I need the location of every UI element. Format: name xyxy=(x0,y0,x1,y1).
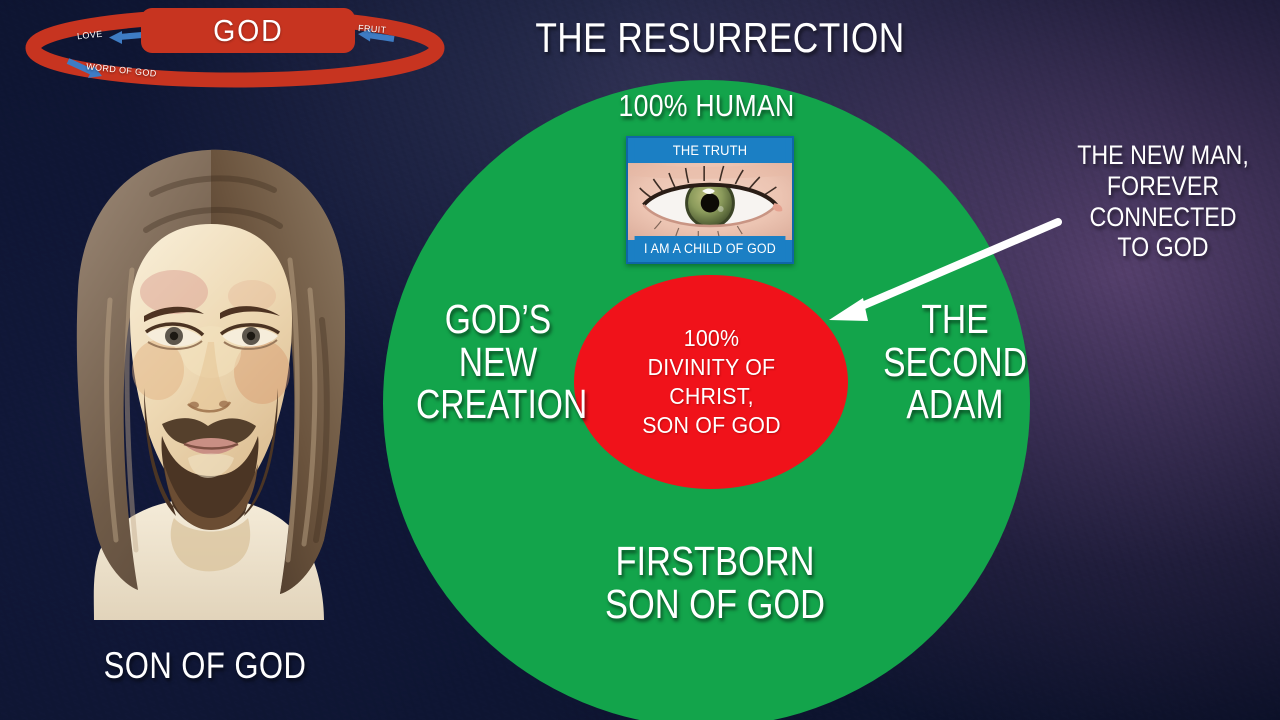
label-100-percent-human: 100% HUMAN xyxy=(428,90,984,122)
page-title: THE RESURRECTION xyxy=(497,14,942,62)
god-label-pill: GOD xyxy=(141,8,355,53)
god-label: GOD xyxy=(213,13,283,49)
eye-card-top-label: THE TRUTH xyxy=(635,138,786,163)
slide-canvas: THE RESURRECTION GOD LOVE FRUIT xyxy=(0,0,1280,720)
love-arrow-icon xyxy=(109,31,142,44)
the-truth-eye-card: THE TRUTH xyxy=(626,136,794,264)
label-the-second-adam: THESECONDADAM xyxy=(877,298,1033,426)
label-gods-new-creation: GOD’SNEWCREATION xyxy=(416,298,580,426)
eye-card-bottom-label: I AM A CHILD OF GOD xyxy=(635,236,786,262)
god-cycle-diagram: GOD LOVE FRUIT WORD OF GOD xyxy=(20,4,450,92)
portrait-caption: SON OF GOD xyxy=(66,645,343,687)
eye-photo xyxy=(628,163,792,240)
cycle-label-fruit: FRUIT xyxy=(358,23,387,35)
jesus-portrait xyxy=(48,120,378,640)
red-ellipse-label: 100%DIVINITY OFCHRIST,SON OF GOD xyxy=(642,324,781,440)
callout-new-man-text: THE NEW MAN,FOREVERCONNECTEDTO GOD xyxy=(1064,140,1262,263)
red-ellipse-divinity: 100%DIVINITY OFCHRIST,SON OF GOD xyxy=(574,275,848,489)
label-firstborn-son-of-god: FIRSTBORNSON OF GOD xyxy=(518,540,913,625)
